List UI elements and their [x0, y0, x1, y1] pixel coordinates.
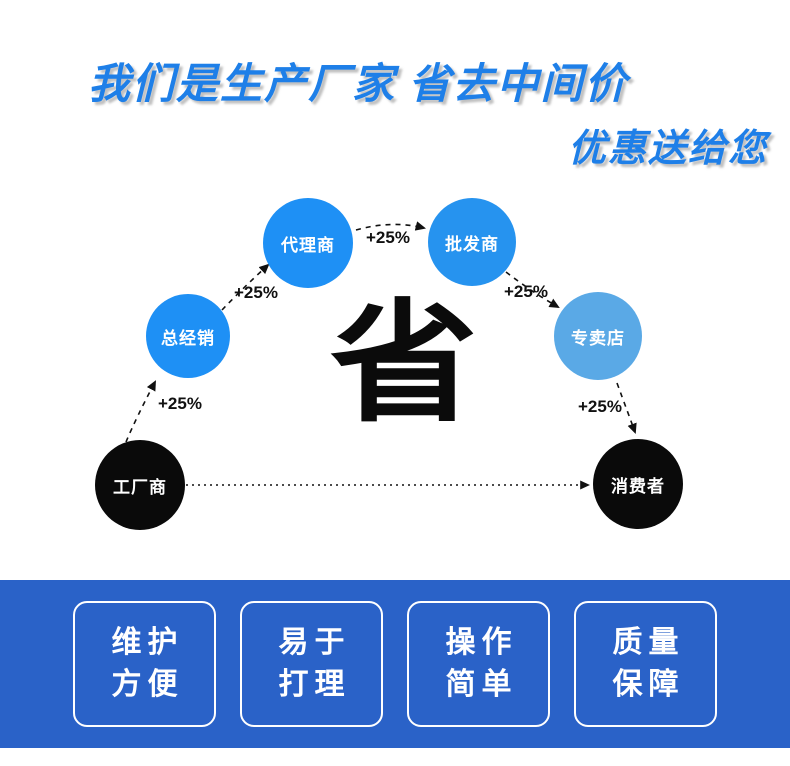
feature-simple-use-line-2: 简单: [440, 670, 518, 700]
supply-chain-diagram: 省 工厂商 总经销 代理商 批发商 专卖店 消费者 +25% +25% +25%…: [0, 170, 790, 570]
node-agent[interactable]: 代理商: [263, 198, 353, 288]
node-consumer[interactable]: 消费者: [593, 439, 683, 529]
node-wholesaler-label: 批发商: [445, 230, 499, 255]
markup-agent-wholesaler: +25%: [366, 228, 410, 248]
headline-line-1: 我们是生产厂家 省去中间价: [88, 50, 629, 111]
feature-maintenance-line-1: 维护: [106, 628, 184, 658]
feature-simple-use[interactable]: 操作 简单: [407, 601, 550, 727]
node-consumer-label: 消费者: [611, 472, 665, 497]
markup-wholesaler-store: +25%: [504, 282, 548, 302]
node-distributor-label: 总经销: [161, 324, 215, 349]
node-store-label: 专卖店: [571, 324, 625, 349]
arrow-factory-to-distributor: [126, 382, 155, 442]
markup-factory-distributor: +25%: [158, 394, 202, 414]
headline-line-2: 优惠送给您: [568, 117, 768, 172]
feature-easy-care-line-2: 打理: [273, 670, 351, 700]
node-agent-label: 代理商: [281, 231, 335, 256]
promo-banner: 我们是生产厂家 省去中间价 优惠送给您 省: [0, 0, 790, 766]
feature-quality[interactable]: 质量 保障: [574, 601, 717, 727]
node-store[interactable]: 专卖店: [554, 292, 642, 380]
feature-easy-care-line-1: 易于: [273, 628, 351, 658]
node-distributor[interactable]: 总经销: [146, 294, 230, 378]
node-wholesaler[interactable]: 批发商: [428, 198, 516, 286]
feature-maintenance[interactable]: 维护 方便: [73, 601, 216, 727]
feature-quality-line-1: 质量: [607, 628, 685, 658]
node-factory-label: 工厂商: [113, 473, 167, 498]
savings-character: 省: [330, 298, 478, 430]
markup-distributor-agent: +25%: [234, 283, 278, 303]
feature-simple-use-line-1: 操作: [440, 628, 518, 658]
markup-store-consumer: +25%: [578, 397, 622, 417]
feature-easy-care[interactable]: 易于 打理: [240, 601, 383, 727]
node-factory[interactable]: 工厂商: [95, 440, 185, 530]
feature-quality-line-2: 保障: [607, 670, 685, 700]
feature-maintenance-line-2: 方便: [106, 670, 184, 700]
feature-bar: 维护 方便 易于 打理 操作 简单 质量 保障: [0, 580, 790, 748]
